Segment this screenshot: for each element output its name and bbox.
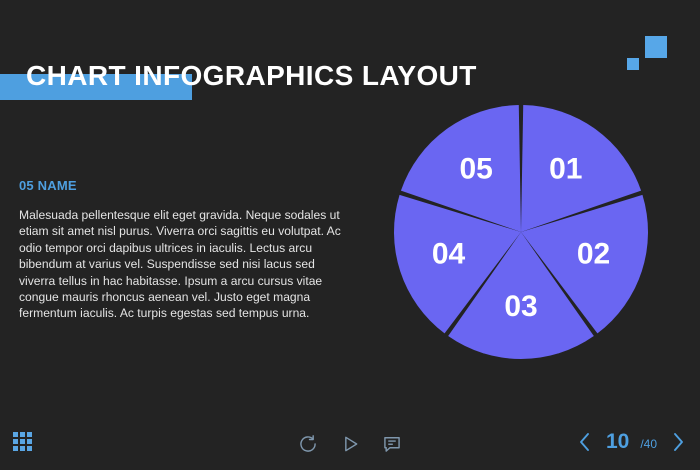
refresh-icon[interactable] [298,434,318,454]
comment-icon[interactable] [382,434,402,454]
page-title: CHART INFOGRAPHICS LAYOUT [26,62,477,90]
pie-slice-label-02: 02 [577,237,610,270]
blue-square-large-icon [645,36,667,58]
pie-chart-svg: 0102030405 [393,104,649,360]
pagination: 10 /40 [577,430,686,454]
section-label: 05 NAME [19,178,77,193]
pie-slice-label-04: 04 [432,237,466,270]
page-number-total: /40 [640,437,657,451]
slide-footer: 10 /40 [0,404,700,470]
pie-slice-label-01: 01 [549,152,582,185]
play-icon[interactable] [340,434,360,454]
slide-canvas: CHART INFOGRAPHICS LAYOUT 05 NAME Malesu… [0,0,700,470]
pie-slice-label-03: 03 [504,290,537,323]
chevron-left-icon[interactable] [577,431,593,453]
page-number-current: 10 [606,430,629,454]
pie-chart: 0102030405 [393,104,649,360]
chevron-right-icon[interactable] [670,431,686,453]
pie-slice-label-05: 05 [460,152,493,185]
blue-square-small-icon [627,58,639,70]
body-paragraph: Malesuada pellentesque elit eget gravida… [19,207,349,322]
